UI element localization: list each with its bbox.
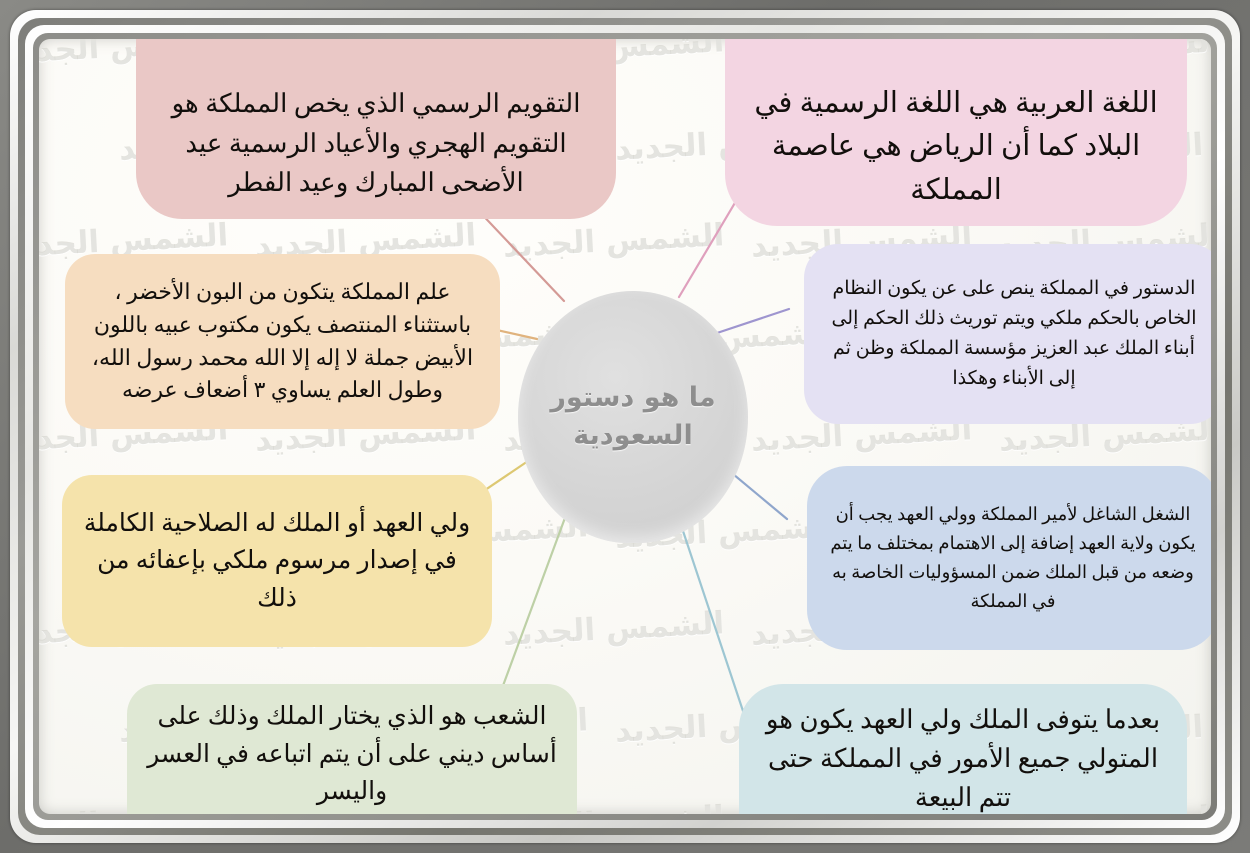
connector-succession: [675, 507, 749, 729]
branch-succession[interactable]: بعدما يتوفى الملك ولي العهد يكون هو المت…: [739, 684, 1187, 814]
center-title: ما هو دستور السعودية: [518, 379, 748, 456]
branch-crown-prince[interactable]: الشغل الشاغل لأمير المملكة وولي العهد يج…: [807, 466, 1211, 650]
branch-royal-decree-text: ولي العهد أو الملك له الصلاحية الكاملة ف…: [78, 505, 476, 618]
branch-language[interactable]: اللغة العربية هي اللغة الرسمية في البلاد…: [725, 39, 1187, 226]
branch-flag-text: علم المملكة يتكون من البون الأخضر ، باست…: [81, 276, 484, 406]
branch-succession-text: بعدما يتوفى الملك ولي العهد يكون هو المت…: [755, 700, 1171, 814]
center-node[interactable]: ما هو دستور السعودية: [518, 291, 748, 543]
watermark-text: الشمس الجديد: [502, 217, 725, 265]
branch-crown-prince-text: الشغل الشاغل لأمير المملكة وولي العهد يج…: [823, 500, 1203, 617]
watermark-text: الشمس الجديد: [502, 605, 725, 653]
mindmap-stage: الشمس الجديدالشمس الجديدالشمس الجديدالشم…: [39, 39, 1211, 814]
branch-people-text: الشعب هو الذي يختار الملك وذلك على أساس …: [143, 698, 561, 811]
branch-flag[interactable]: علم المملكة يتكون من البون الأخضر ، باست…: [65, 254, 500, 429]
branch-constitution[interactable]: الدستور في المملكة ينص على عن يكون النظا…: [804, 244, 1211, 424]
connector-constitution: [714, 309, 789, 334]
branch-royal-decree[interactable]: ولي العهد أو الملك له الصلاحية الكاملة ف…: [62, 475, 492, 647]
infographic-canvas: الشمس الجديدالشمس الجديدالشمس الجديدالشم…: [0, 0, 1250, 853]
branch-people[interactable]: الشعب هو الذي يختار الملك وذلك على أساس …: [127, 684, 577, 814]
branch-calendar[interactable]: التقويم الرسمي الذي يخص المملكة هو التقو…: [136, 39, 616, 219]
branch-calendar-text: التقويم الرسمي الذي يخص المملكة هو التقو…: [152, 84, 600, 203]
branch-constitution-text: الدستور في المملكة ينص على عن يكون النظا…: [820, 274, 1208, 394]
branch-language-text: اللغة العربية هي اللغة الرسمية في البلاد…: [741, 82, 1171, 213]
